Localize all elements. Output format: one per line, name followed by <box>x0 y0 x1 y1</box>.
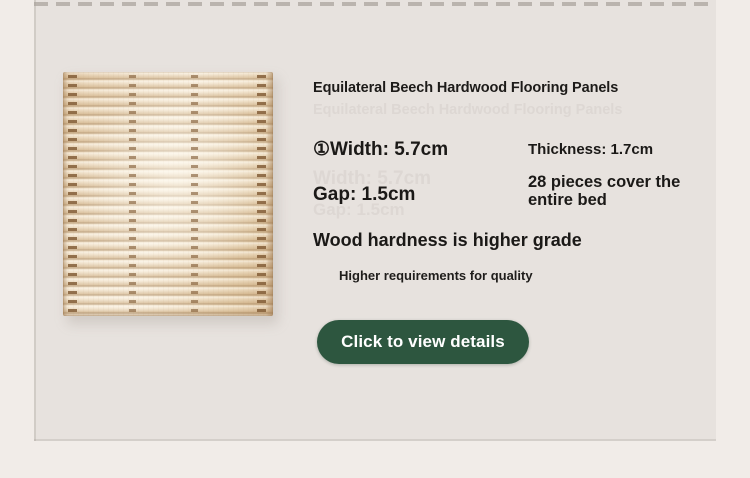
spec-gap: Gap: 1.5cm <box>313 184 415 206</box>
fastener-marks-mid2-icon <box>191 72 198 316</box>
quality-note: Higher requirements for quality <box>339 268 693 283</box>
spec-coverage: 28 pieces cover the entire bed <box>528 173 713 210</box>
product-info-column: Equilateral Beech Hardwood Flooring Pane… <box>313 80 693 283</box>
bed-slat-panel-photo <box>63 72 273 316</box>
spec-thickness: Thickness: 1.7cm <box>528 141 653 158</box>
fastener-marks-mid1-icon <box>129 72 136 316</box>
hardness-claim: Wood hardness is higher grade <box>313 230 693 251</box>
product-image[interactable] <box>63 72 278 322</box>
spec-grid: ①Width: 5.7cm Thickness: 1.7cm Gap: 1.5c… <box>313 138 693 230</box>
card-bottom-border <box>34 439 716 441</box>
product-card: Equilateral Beech Hardwood Flooring Pane… <box>34 0 716 441</box>
panel-left-bevel <box>63 72 68 316</box>
spec-width: ①Width: 5.7cm <box>313 138 448 161</box>
product-title: Equilateral Beech Hardwood Flooring Pane… <box>313 80 693 96</box>
fastener-marks-left-icon <box>68 72 77 316</box>
top-dashed-divider <box>34 2 716 6</box>
panel-right-bevel <box>266 72 273 316</box>
fastener-marks-right-icon <box>257 72 266 316</box>
photo-highlight <box>63 72 273 316</box>
panel-bottom-bevel <box>63 311 273 316</box>
view-details-button[interactable]: Click to view details <box>317 320 529 364</box>
card-left-border <box>34 0 36 441</box>
